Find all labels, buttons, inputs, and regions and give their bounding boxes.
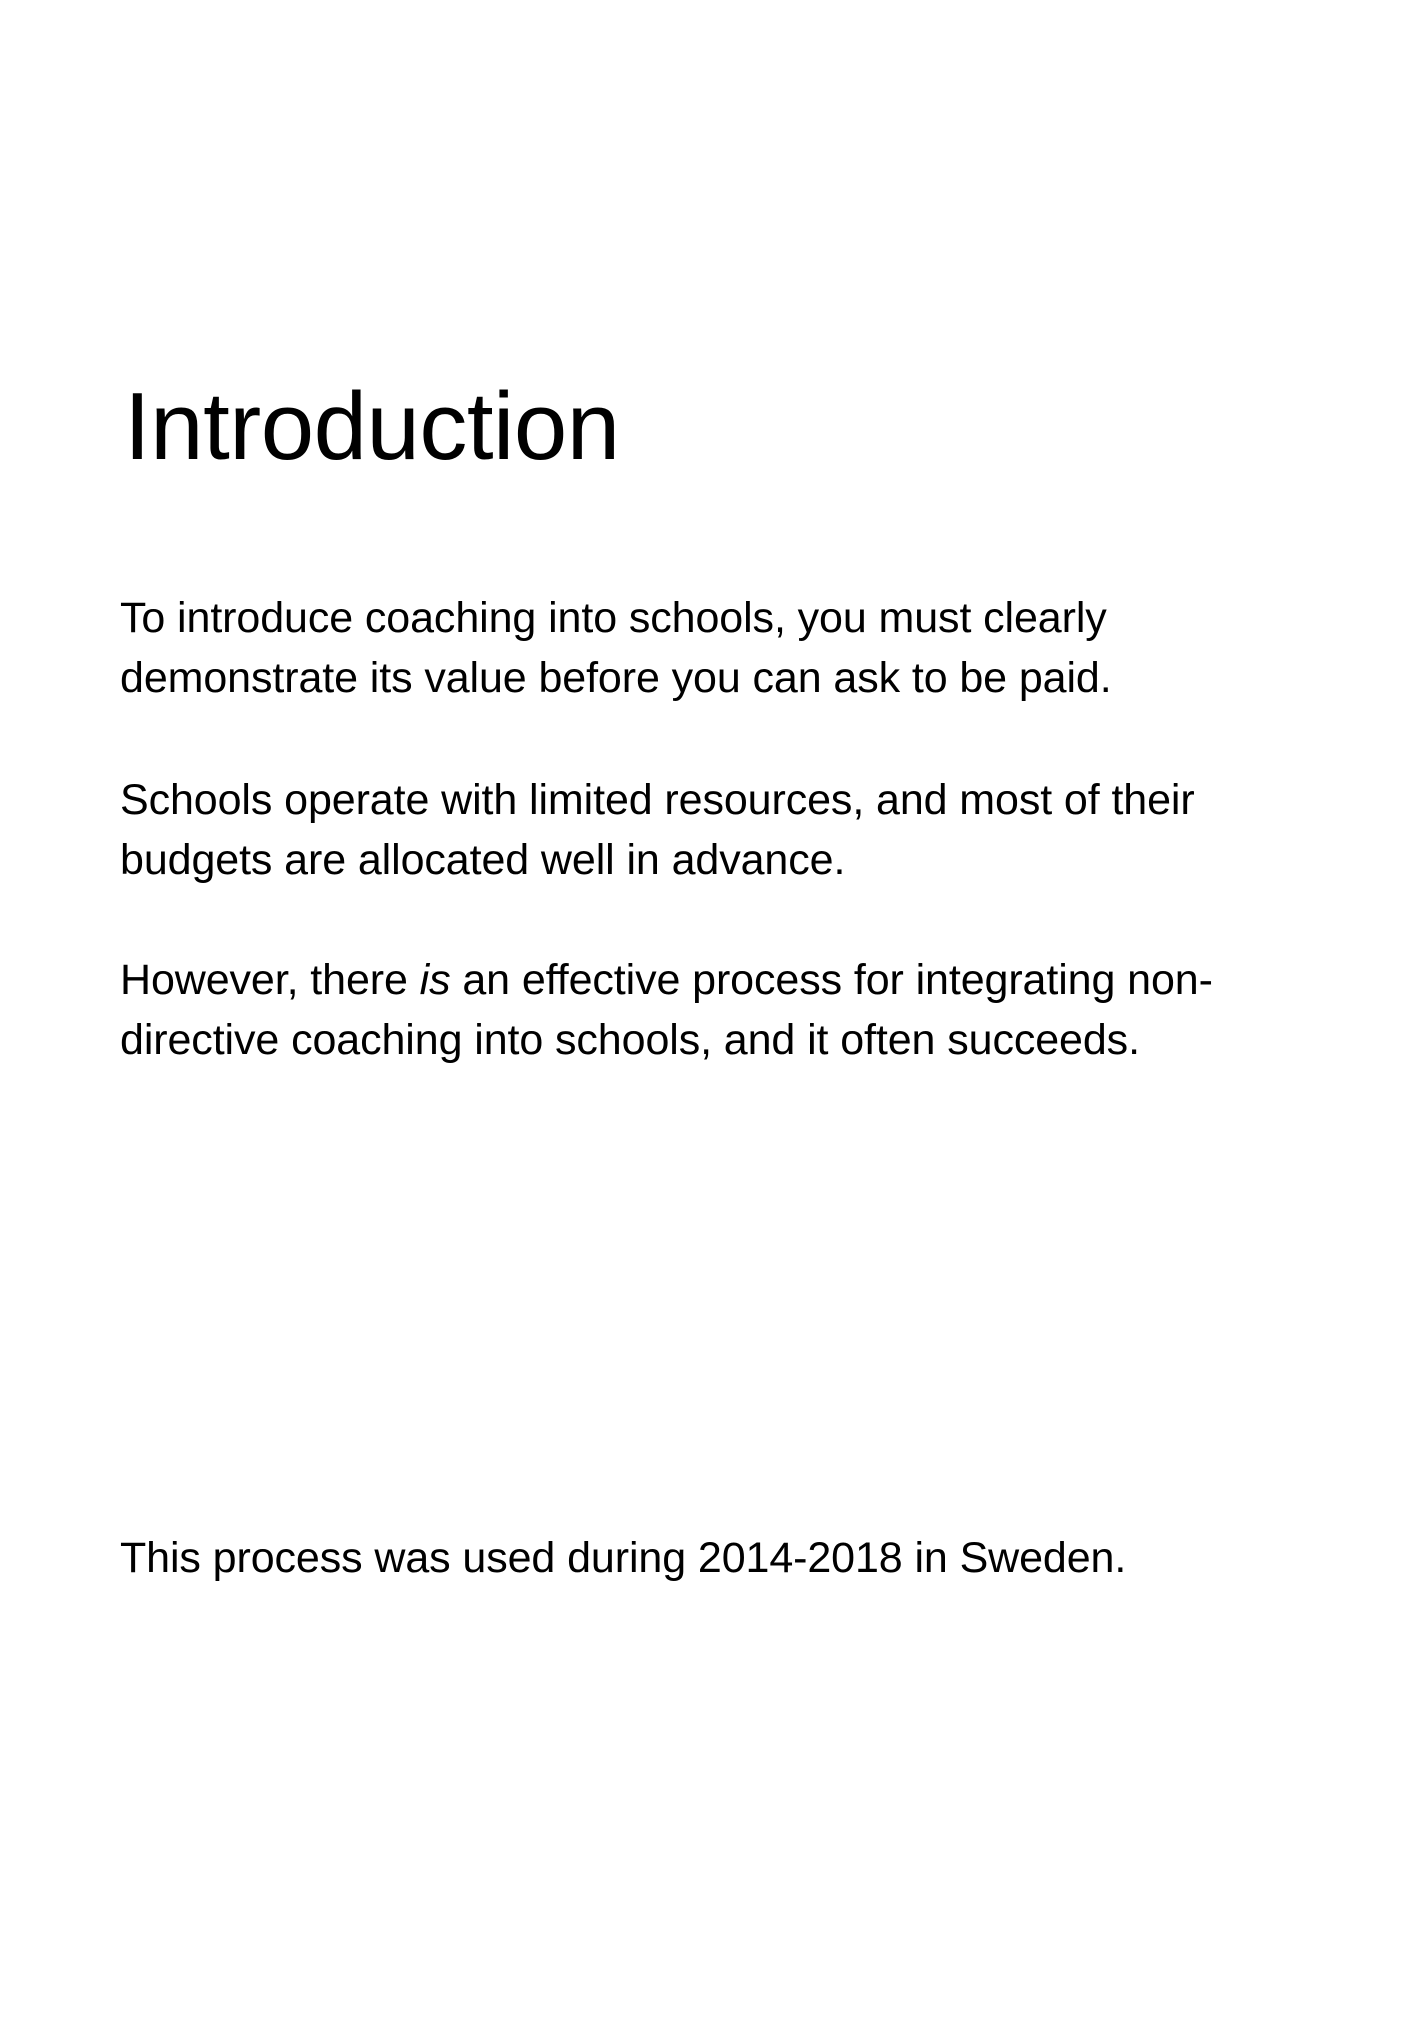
page-title: Introduction xyxy=(124,372,620,482)
paragraph-text: Schools operate with limited resources, … xyxy=(120,770,1250,890)
paragraph-effective-process: However, there is an effective process f… xyxy=(120,950,1250,1070)
paragraph-text: To introduce coaching into schools, you … xyxy=(120,588,1250,708)
slide-canvas: Introduction To introduce coaching into … xyxy=(0,0,1428,2018)
paragraph-intro-value: To introduce coaching into schools, you … xyxy=(120,588,1250,708)
paragraph-text: However, there is an effective process f… xyxy=(120,950,1250,1070)
paragraph-text-lead: However, there xyxy=(120,956,420,1004)
paragraph-sweden-usage: This process was used during 2014-2018 i… xyxy=(120,1528,1250,1588)
emphasis-word: is xyxy=(420,956,451,1004)
paragraph-text: This process was used during 2014-2018 i… xyxy=(120,1528,1250,1588)
paragraph-limited-resources: Schools operate with limited resources, … xyxy=(120,770,1250,890)
